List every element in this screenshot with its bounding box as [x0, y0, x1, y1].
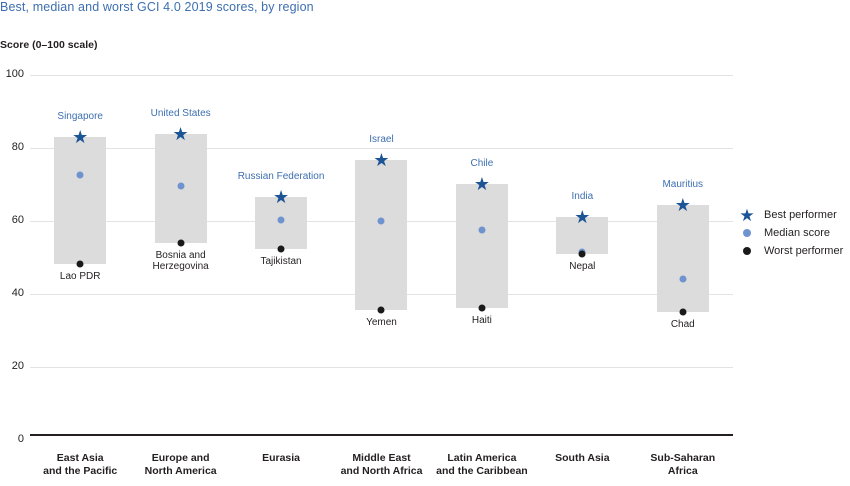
best-performer-label: Russian Federation — [238, 171, 325, 183]
range-bar[interactable] — [456, 184, 508, 308]
legend-item-best-performer: ★ Best performer — [736, 206, 850, 224]
star-icon: ★ — [736, 207, 758, 224]
median-score-marker[interactable] — [278, 217, 285, 224]
worst-performer-label: Yemen — [366, 317, 397, 329]
bar-group: India★Nepal — [532, 60, 632, 440]
plot-area: Singapore★Lao PDRUnited States★Bosnia an… — [30, 60, 733, 440]
x-axis-category-label: Eurasia — [262, 452, 300, 465]
page-title: Best, median and worst GCI 4.0 2019 scor… — [0, 0, 314, 14]
range-bar[interactable] — [355, 160, 407, 310]
median-score-marker[interactable] — [177, 183, 184, 190]
bar-group: Mauritius★Chad — [633, 60, 733, 440]
y-axis-tick-label: 80 — [0, 142, 24, 153]
bar-group: Chile★Haiti — [432, 60, 532, 440]
bar-group: Russian Federation★Tajikistan — [231, 60, 331, 440]
best-performer-label: United States — [151, 108, 211, 120]
y-axis-title: Score (0–100 scale) — [0, 39, 97, 51]
y-axis-tick-labels: 020406080100 — [0, 60, 24, 440]
x-axis-category-label: South Asia — [555, 452, 609, 465]
x-axis-category-label: East Asiaand the Pacific — [43, 452, 117, 478]
worst-performer-marker[interactable] — [77, 261, 84, 268]
legend-item-worst-performer: Worst performer — [736, 242, 850, 260]
legend-item-median-score: Median score — [736, 224, 850, 242]
median-score-marker[interactable] — [478, 227, 485, 234]
worst-performer-marker[interactable] — [278, 245, 285, 252]
best-performer-label: Singapore — [57, 111, 103, 123]
best-performer-label: India — [572, 191, 594, 203]
x-axis-category-label: Latin Americaand the Caribbean — [436, 452, 528, 478]
bar-group: Israel★Yemen — [331, 60, 431, 440]
worst-performer-label: Bosnia andHerzegovina — [153, 250, 209, 274]
y-axis-tick-label: 100 — [0, 69, 24, 80]
worst-performer-marker[interactable] — [579, 251, 586, 258]
best-performer-label: Israel — [369, 134, 393, 146]
worst-performer-label: Tajikistan — [260, 256, 301, 268]
legend-label: Worst performer — [758, 245, 843, 257]
worst-performer-marker[interactable] — [378, 307, 385, 314]
worst-performer-marker[interactable] — [478, 304, 485, 311]
y-axis-tick-label: 60 — [0, 215, 24, 226]
median-score-marker[interactable] — [679, 276, 686, 283]
x-axis-category-label: Europe andNorth America — [145, 452, 217, 478]
range-bar[interactable] — [657, 205, 709, 312]
circle-icon — [736, 247, 758, 255]
worst-performer-marker[interactable] — [679, 308, 686, 315]
bar-group: United States★Bosnia andHerzegovina — [130, 60, 230, 440]
circle-icon — [736, 229, 758, 237]
x-axis-baseline — [30, 434, 733, 436]
worst-performer-label: Nepal — [569, 261, 595, 273]
bar-group: Singapore★Lao PDR — [30, 60, 130, 440]
legend: ★ Best performer Median score Worst perf… — [736, 206, 850, 260]
y-axis-tick-label: 40 — [0, 288, 24, 299]
best-performer-label: Mauritius — [662, 179, 703, 191]
worst-performer-marker[interactable] — [177, 239, 184, 246]
x-axis-category-label: Middle Eastand North Africa — [341, 452, 423, 478]
legend-label: Median score — [758, 227, 830, 239]
y-axis-tick-label: 20 — [0, 361, 24, 372]
worst-performer-label: Haiti — [472, 315, 492, 327]
range-bar[interactable] — [54, 137, 106, 265]
y-axis-tick-label: 0 — [0, 434, 24, 445]
best-performer-label: Chile — [471, 158, 494, 170]
median-score-marker[interactable] — [77, 172, 84, 179]
x-axis-category-label: Sub-SaharanAfrica — [650, 452, 715, 478]
worst-performer-label: Lao PDR — [60, 271, 101, 283]
legend-label: Best performer — [758, 209, 837, 221]
worst-performer-label: Chad — [671, 319, 695, 331]
median-score-marker[interactable] — [378, 218, 385, 225]
x-axis-category-labels: East Asiaand the PacificEurope andNorth … — [30, 452, 733, 486]
